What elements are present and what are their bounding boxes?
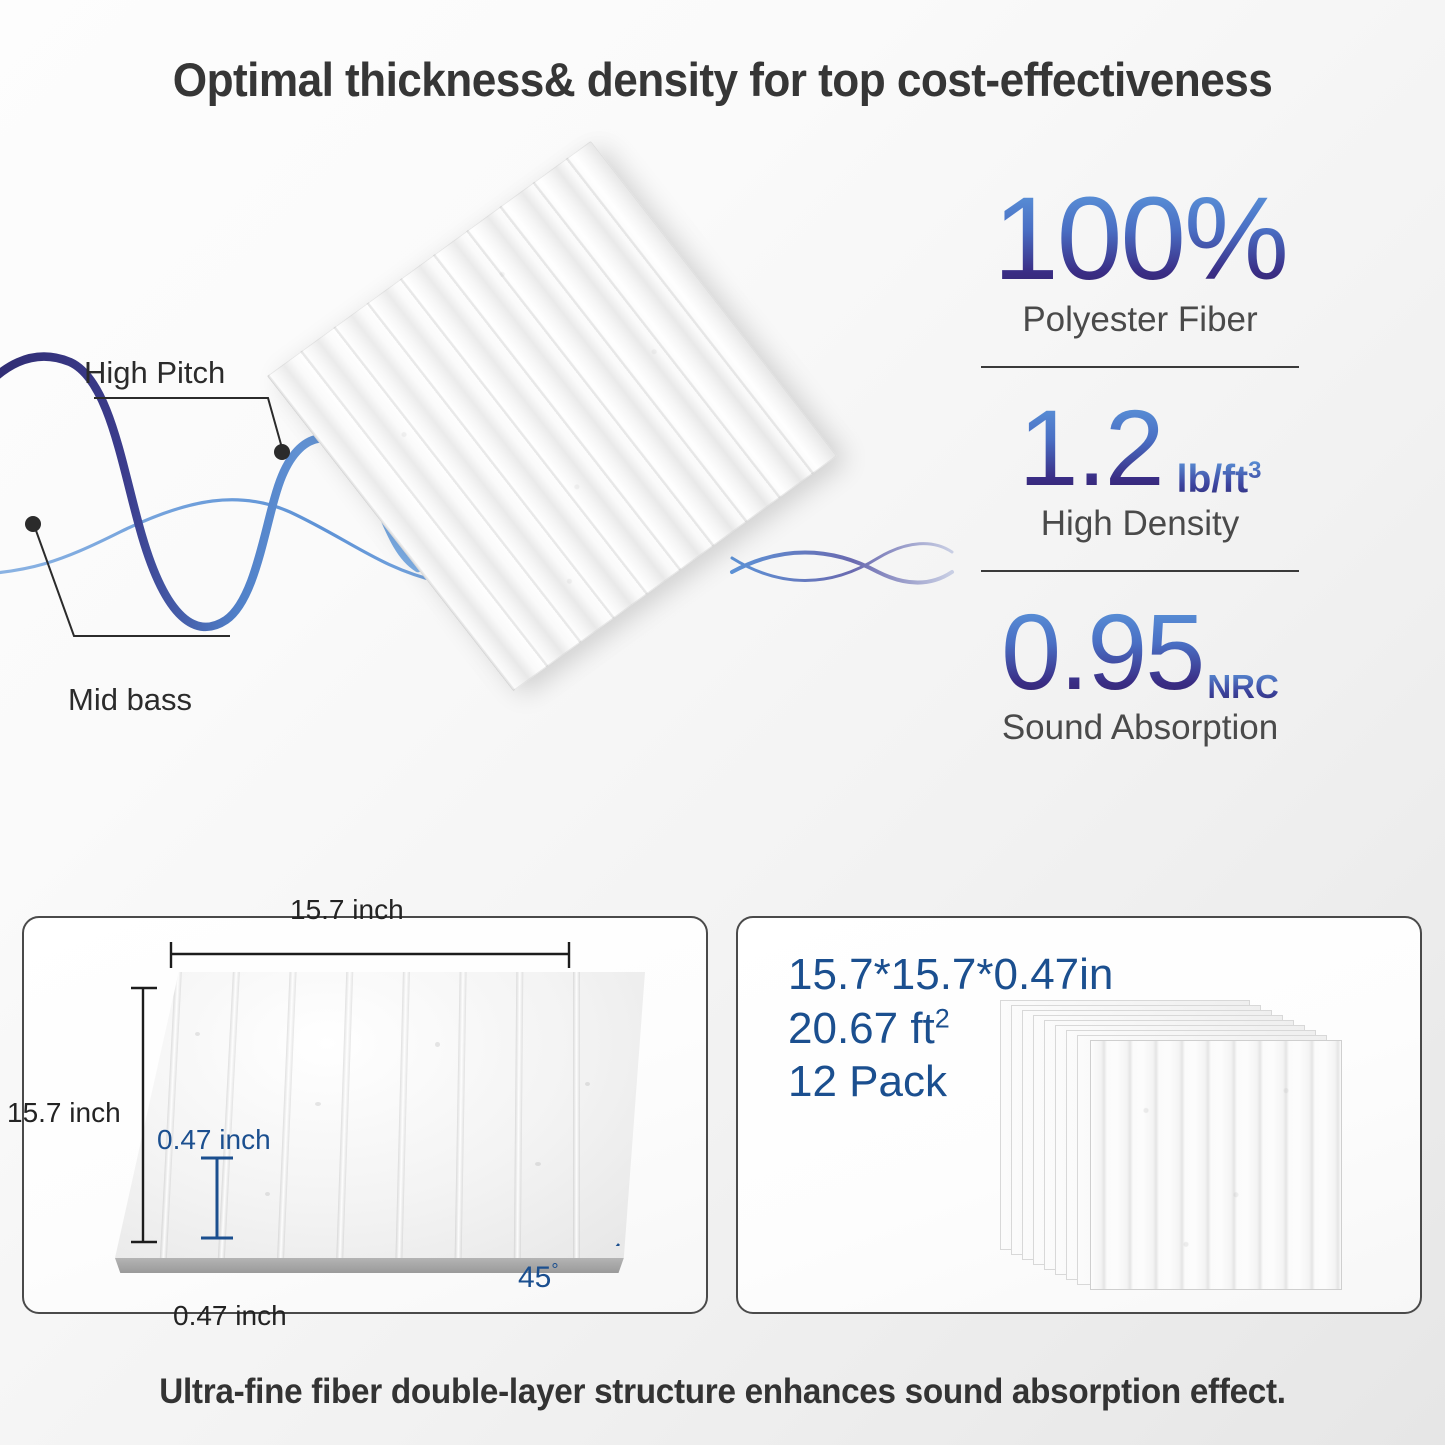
groove-dimension-label: 0.47 inch xyxy=(173,1300,287,1332)
thickness-dimension-label: 0.47 inch xyxy=(157,1124,271,1156)
panel-stack-illustration xyxy=(1000,1000,1350,1290)
stat-value-nrc: 0.95 xyxy=(1001,598,1203,706)
stat-caption-nrc: Sound Absorption xyxy=(930,708,1350,748)
high-pitch-marker-dot xyxy=(274,444,290,460)
mid-bass-label: Mid bass xyxy=(68,682,192,718)
stat-value-polyester: 100% xyxy=(993,180,1287,298)
stat-unit-density: lb/ft3 xyxy=(1177,457,1262,502)
panel-stack-front-face xyxy=(1090,1040,1342,1290)
angle-label: 45° xyxy=(518,1260,559,1295)
stat-caption-density: High Density xyxy=(930,504,1350,544)
panel-slab-edge xyxy=(115,1258,645,1273)
spec-size: 15.7*15.7*0.47in xyxy=(788,948,1113,1002)
stat-polyester: 100% Polyester Fiber xyxy=(930,180,1350,340)
width-dimension-label: 15.7 inch xyxy=(290,894,404,926)
panel-grooves xyxy=(115,972,645,1272)
high-pitch-label: High Pitch xyxy=(84,355,225,391)
stat-unit-nrc: NRC xyxy=(1207,668,1279,706)
stat-divider-2 xyxy=(981,570,1299,572)
acoustic-panel-hero xyxy=(292,146,822,706)
footer-caption: Ultra-fine fiber double-layer structure … xyxy=(36,1372,1409,1412)
page-title: Optimal thickness& density for top cost-… xyxy=(43,52,1401,107)
stat-density: 1.2 lb/ft3 High Density xyxy=(930,394,1350,544)
stats-column: 100% Polyester Fiber 1.2 lb/ft3 High Den… xyxy=(930,180,1350,748)
stat-value-density: 1.2 xyxy=(1019,394,1163,502)
height-dimension-label: 15.7 inch xyxy=(7,1097,121,1129)
stat-nrc: 0.95 NRC Sound Absorption xyxy=(930,598,1350,748)
stat-divider-1 xyxy=(981,366,1299,368)
high-pitch-leader xyxy=(94,398,282,448)
acoustic-panel-image xyxy=(267,141,837,691)
dimension-illustration: 15.7 inch 15.7 inch 0.47 inch 0.47 inch … xyxy=(115,972,645,1272)
stat-caption-polyester: Polyester Fiber xyxy=(930,300,1350,340)
mid-bass-leader xyxy=(34,525,230,636)
mid-bass-marker-dot xyxy=(25,516,41,532)
